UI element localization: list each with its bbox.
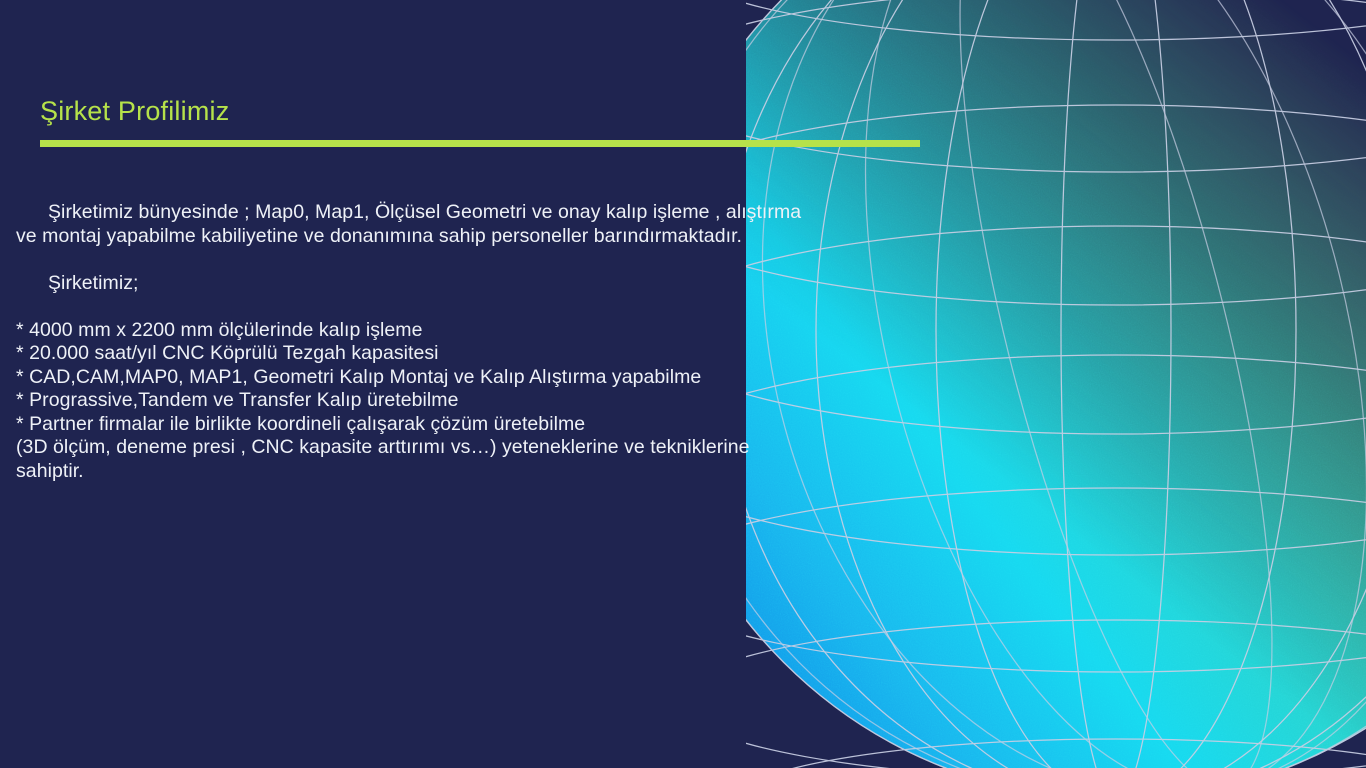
paragraph-spacer-2 [16,295,960,319]
title-underline-rule [40,140,920,147]
intro-line-2: ve montaj yapabilme kabiliyetine ve dona… [16,225,960,249]
list-item: * Partner firmalar ile birlikte koordine… [16,413,960,437]
closing-line-1: (3D ölçüm, deneme presi , CNC kapasite a… [16,436,960,460]
lead-in-line: Şirketimiz; [16,272,960,296]
page-title: Şirket Profilimiz [40,96,924,127]
body-text-block: Şirketimiz bünyesinde ; Map0, Map1, Ölçü… [16,201,960,483]
list-item: * CAD,CAM,MAP0, MAP1, Geometri Kalıp Mon… [16,366,960,390]
list-item: * 20.000 saat/yıl CNC Köprülü Tezgah kap… [16,342,960,366]
capability-list: * 4000 mm x 2200 mm ölçülerinde kalıp iş… [16,319,960,437]
slide-canvas: Şirket Profilimiz Şirketimiz bünyesinde … [0,0,1366,768]
closing-line-2: sahiptir. [16,460,960,484]
list-item: * Prograssive,Tandem ve Transfer Kalıp ü… [16,389,960,413]
title-block: Şirket Profilimiz [40,96,924,127]
paragraph-spacer-1 [16,248,960,272]
list-item: * 4000 mm x 2200 mm ölçülerinde kalıp iş… [16,319,960,343]
intro-line-1: Şirketimiz bünyesinde ; Map0, Map1, Ölçü… [16,201,960,225]
